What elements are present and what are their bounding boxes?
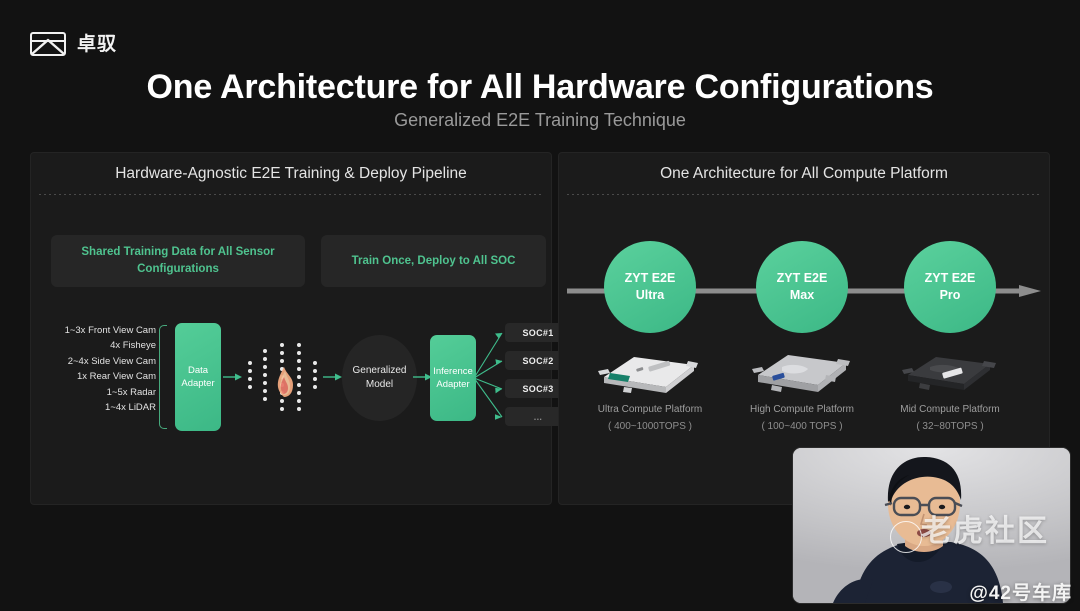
arrow-right-icon [223,371,243,383]
compute-unit-silver-icon [742,343,862,399]
highlight-card-train-once: Train Once, Deploy to All SOC [321,235,546,287]
pipeline-diagram: 1~3x Front View Cam 4x Fisheye 2~4x Side… [31,323,553,453]
sensor-item: 2~4x Side View Cam [31,354,156,369]
page-title: One Architecture for All Hardware Config… [0,68,1080,107]
panel-training-pipeline: Hardware-Agnostic E2E Training & Deploy … [30,152,552,505]
sensor-item: 1x Rear View Cam [31,369,156,384]
brand-lockup: 卓驭 [30,32,117,56]
platform-name: High Compute Platform [750,404,854,415]
sensor-list: 1~3x Front View Cam 4x Fisheye 2~4x Side… [31,323,156,415]
platform-node-row: ZYT E2E Ultra ZYT E2E Max ZYT E2E Pro [559,241,1051,341]
sensor-item: 1~3x Front View Cam [31,323,156,338]
node-line1: ZYT E2E [925,271,976,285]
platform-caption-ultra: Ultra Compute Platform ( 400~1000TOPS ) [570,401,730,435]
inference-adapter-block: Inference Adapter [430,335,476,421]
slide-root: 卓驭 One Architecture for All Hardware Con… [0,0,1080,611]
sensor-item: 1~5x Radar [31,385,156,400]
compute-unit-dark-icon [890,343,1010,399]
compute-unit-image-row [559,343,1051,401]
generalized-model-node: Generalized Model [342,335,417,421]
platform-caption-row: Ultra Compute Platform ( 400~1000TOPS ) … [559,401,1051,441]
data-adapter-block: Data Adapter [175,323,221,431]
channel-handle: @42号车库 [969,578,1072,605]
sensor-item: 1~4x LiDAR [31,400,156,415]
right-panel-header: One Architecture for All Compute Platfor… [559,153,1049,195]
circular-logo-icon [890,521,922,553]
node-line1: ZYT E2E [625,271,676,285]
platform-caption-mid: Mid Compute Platform ( 32~80TOPS ) [870,401,1030,435]
page-subtitle: Generalized E2E Training Technique [0,110,1080,131]
platform-spec: ( 32~80TOPS ) [870,418,1030,435]
platform-spec: ( 100~400 TOPS ) [722,418,882,435]
node-line2: Ultra [636,288,664,302]
platform-name: Ultra Compute Platform [598,404,702,415]
platform-name: Mid Compute Platform [900,404,999,415]
compute-unit-white-icon [590,343,710,399]
mountain-logo-icon [30,32,66,56]
platform-caption-high: High Compute Platform ( 100~400 TOPS ) [722,401,882,435]
sensor-group-brace [159,325,167,429]
brand-name: 卓驭 [77,35,117,54]
sensor-item: 4x Fisheye [31,338,156,353]
neural-network-flame-icon [243,337,325,417]
arrow-right-icon [323,371,343,383]
node-line1: ZYT E2E [777,271,828,285]
highlight-card-group: Shared Training Data for All Sensor Conf… [51,235,546,287]
platform-node-pro: ZYT E2E Pro [904,241,996,333]
platform-node-max: ZYT E2E Max [756,241,848,333]
node-line2: Pro [940,288,961,302]
node-line2: Max [790,288,814,302]
platform-spec: ( 400~1000TOPS ) [570,418,730,435]
left-panel-header: Hardware-Agnostic E2E Training & Deploy … [31,153,551,195]
highlight-card-shared-data: Shared Training Data for All Sensor Conf… [51,235,305,287]
platform-node-ultra: ZYT E2E Ultra [604,241,696,333]
